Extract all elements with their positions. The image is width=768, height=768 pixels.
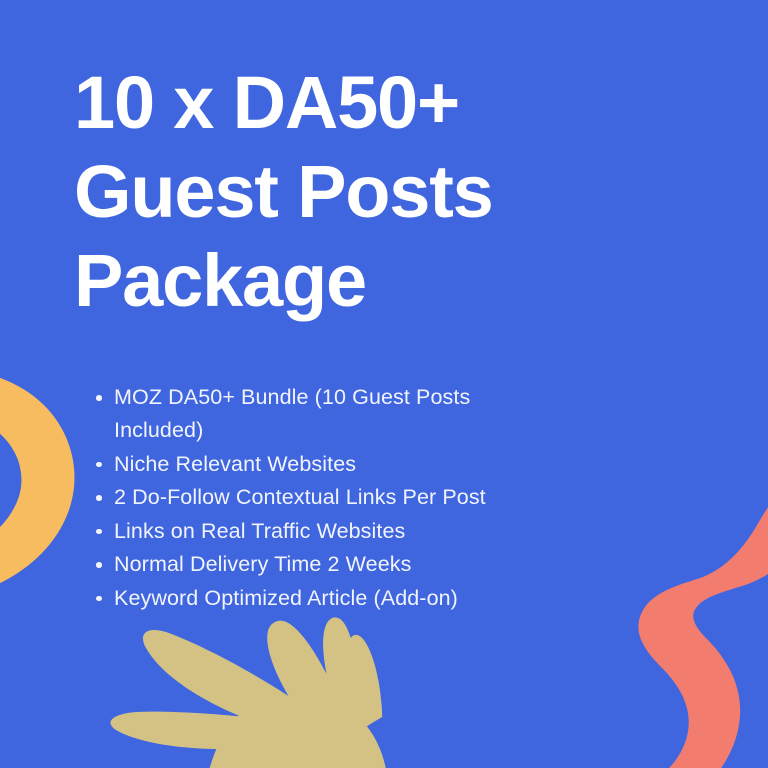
list-item-label: Keyword Optimized Article (Add-on) [114, 586, 458, 610]
list-item: Keyword Optimized Article (Add-on) [92, 582, 562, 615]
bullet-dot-icon [96, 562, 102, 568]
list-item: 2 Do-Follow Contextual Links Per Post [92, 481, 562, 514]
promo-poster: 10 x DA50+ Guest Posts Package MOZ DA50+… [0, 0, 768, 768]
feature-list: MOZ DA50+ Bundle (10 Guest Posts Include… [92, 381, 562, 615]
list-item-label: Normal Delivery Time 2 Weeks [114, 552, 412, 576]
list-item: Niche Relevant Websites [92, 448, 562, 481]
page-title: 10 x DA50+ Guest Posts Package [74, 58, 694, 325]
bullet-dot-icon [96, 529, 102, 535]
list-item-label: 2 Do-Follow Contextual Links Per Post [114, 485, 486, 509]
list-item: MOZ DA50+ Bundle (10 Guest Posts Include… [92, 381, 562, 447]
poster-content: 10 x DA50+ Guest Posts Package MOZ DA50+… [0, 0, 768, 768]
bullet-dot-icon [96, 596, 102, 602]
list-item-label: MOZ DA50+ Bundle (10 Guest Posts Include… [114, 385, 470, 442]
list-item-label: Niche Relevant Websites [114, 452, 356, 476]
list-item: Links on Real Traffic Websites [92, 515, 562, 548]
list-item-label: Links on Real Traffic Websites [114, 519, 405, 543]
list-item: Normal Delivery Time 2 Weeks [92, 548, 562, 581]
bullet-dot-icon [96, 495, 102, 501]
bullet-dot-icon [96, 462, 102, 468]
bullet-dot-icon [96, 395, 102, 401]
